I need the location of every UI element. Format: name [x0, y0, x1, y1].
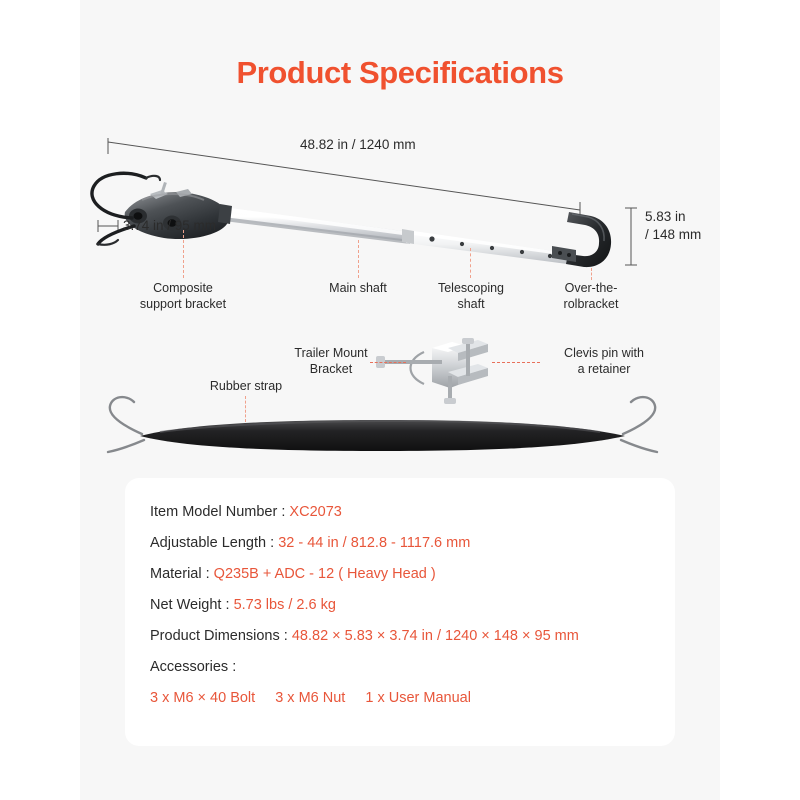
- spec-label: Item Model Number :: [150, 504, 285, 520]
- spec-label: Product Dimensions :: [150, 628, 288, 644]
- height-label-line1: 5.83 in: [645, 208, 701, 226]
- callout-rubber-strap: Rubber strap: [192, 378, 300, 394]
- height-dimension-rule: [625, 208, 637, 265]
- height-label-line2: / 148 mm: [645, 226, 701, 244]
- telescoping-shaft-graphic: [402, 229, 575, 265]
- accessory-item-bolt: 3 x M6 × 40 Bolt: [150, 690, 255, 706]
- leader-rubber-strap: [245, 396, 246, 422]
- callout-telescoping-shaft: Telescoping shaft: [412, 280, 530, 313]
- spec-label: Material :: [150, 566, 210, 582]
- leader-clevis-pin: [492, 362, 540, 363]
- spec-row-product-dimensions: Product Dimensions : 48.82 × 5.83 × 3.74…: [150, 628, 675, 644]
- callout-over-the-roll-bracket: Over-the- rolbracket: [532, 280, 650, 313]
- rubber-strap-graphic: [108, 397, 657, 452]
- callout-clevis-pin: Clevis pin with a retainer: [544, 345, 664, 378]
- over-the-roll-bracket-graphic: [552, 212, 611, 267]
- page-title: Product Specifications: [0, 55, 800, 91]
- spec-label: Net Weight :: [150, 597, 230, 613]
- spec-value: Q235B + ADC - 12 ( Heavy Head ): [214, 566, 436, 582]
- specifications-list: Item Model Number : XC2073 Adjustable Le…: [125, 478, 675, 706]
- spec-value: 48.82 × 5.83 × 3.74 in / 1240 × 148 × 95…: [292, 628, 579, 644]
- trailer-mount-bracket-graphic: [376, 338, 488, 404]
- spec-row-net-weight: Net Weight : 5.73 lbs / 2.6 kg: [150, 597, 675, 613]
- spec-value: 32 - 44 in / 812.8 - 1117.6 mm: [278, 535, 470, 551]
- leader-over-the-roll-bracket: [591, 268, 592, 280]
- spec-row-item-model-number: Item Model Number : XC2073: [150, 504, 675, 520]
- spec-row-accessories: Accessories :: [150, 659, 675, 675]
- accessory-item-nut: 3 x M6 Nut: [275, 690, 345, 706]
- depth-dimension-rule: [98, 220, 118, 232]
- height-label: 5.83 in / 148 mm: [645, 208, 701, 244]
- product-diagram: 48.82 in / 1240 mm 3.74 in / 95 mm 5.83 …: [80, 120, 720, 480]
- spec-label: Accessories :: [150, 659, 236, 675]
- depth-label: 3.74 in / 95 mm: [123, 217, 216, 235]
- accessory-item-manual: 1 x User Manual: [365, 690, 471, 706]
- leader-main-shaft: [358, 240, 359, 278]
- leader-trailer-mount-bracket: [370, 362, 406, 363]
- spec-label: Adjustable Length :: [150, 535, 274, 551]
- spec-value: XC2073: [289, 504, 341, 520]
- spec-row-material: Material : Q235B + ADC - 12 ( Heavy Head…: [150, 566, 675, 582]
- callout-trailer-mount-bracket: Trailer Mount Bracket: [292, 345, 370, 378]
- callout-main-shaft: Main shaft: [298, 280, 418, 296]
- spec-value: 5.73 lbs / 2.6 kg: [234, 597, 336, 613]
- leader-composite-support-bracket: [183, 230, 184, 278]
- spec-row-adjustable-length: Adjustable Length : 32 - 44 in / 812.8 -…: [150, 535, 675, 551]
- page-root: Product Specifications: [0, 0, 800, 800]
- accessories-list: 3 x M6 × 40 Bolt 3 x M6 Nut 1 x User Man…: [150, 690, 675, 706]
- overall-length-label: 48.82 in / 1240 mm: [300, 136, 416, 154]
- callout-composite-support-bracket: Composite support bracket: [108, 280, 258, 313]
- leader-telescoping-shaft: [470, 248, 471, 278]
- main-shaft-graphic: [215, 206, 410, 244]
- specifications-panel: Item Model Number : XC2073 Adjustable Le…: [125, 478, 675, 746]
